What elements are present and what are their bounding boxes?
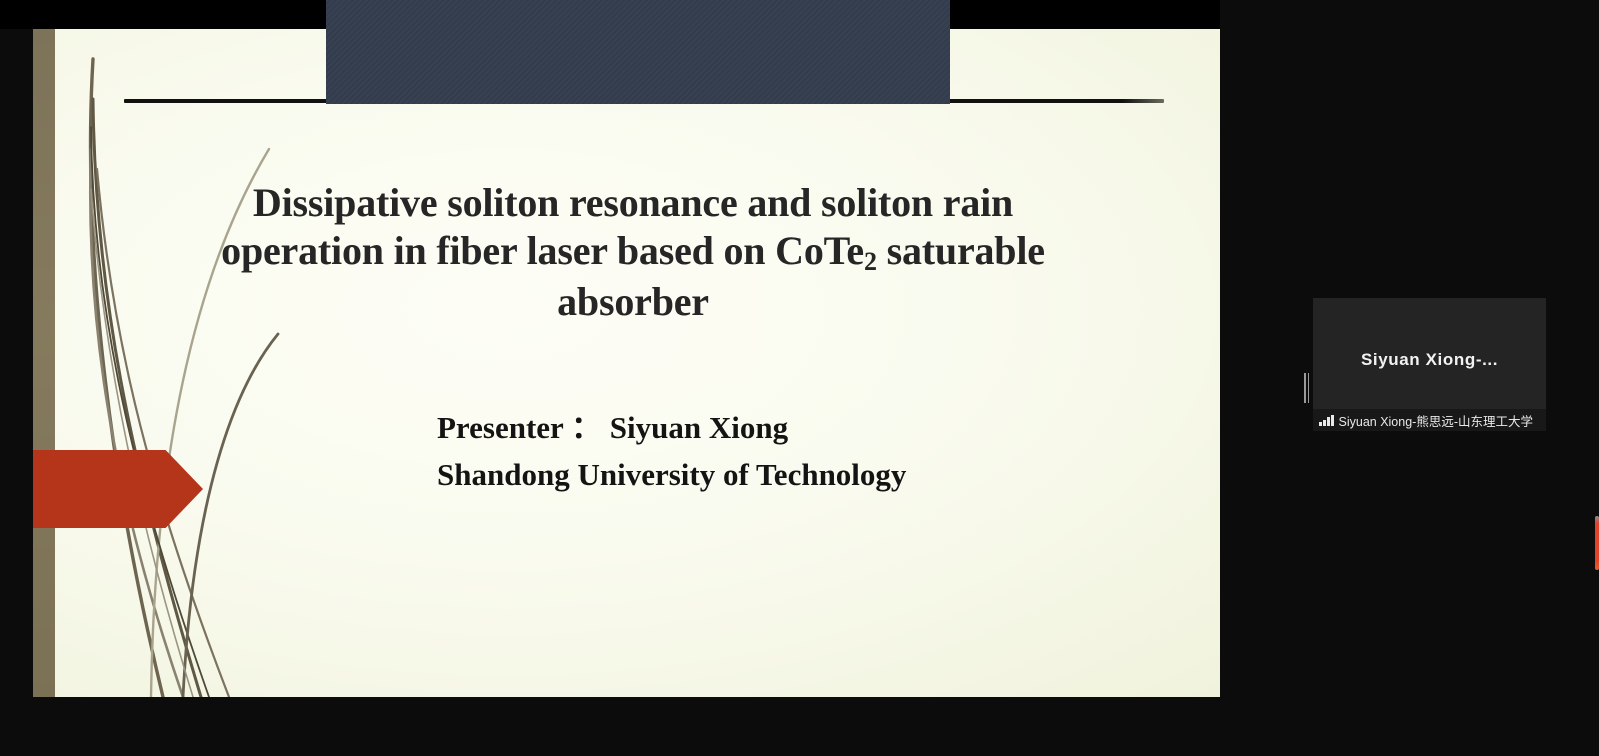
slide-title-line-1: Dissipative soliton resonance and solito…	[183, 179, 1083, 227]
slide-title-subscript: 2	[864, 247, 877, 276]
slide-presenter-block: Presenter ： Siyuan Xiong Shandong Univer…	[437, 404, 1137, 499]
video-tile-drag-handle[interactable]	[1304, 373, 1311, 403]
slide-title-line-2-pre: operation in fiber laser based on CoTe	[221, 228, 864, 273]
presenter-name-line: Presenter ： Siyuan Xiong	[437, 404, 1137, 451]
participant-full-name: Siyuan Xiong-熊思远-山东理工大学	[1339, 411, 1534, 430]
meeting-screen-share-canvas: 2024 6th Internat ICOMD 2024) Dissipativ…	[0, 0, 1599, 756]
accent-chevron-banner	[33, 450, 203, 528]
decorative-grass-stems-icon	[33, 29, 353, 697]
slide-title-line-3: absorber	[183, 278, 1083, 326]
right-edge-scroll-indicator[interactable]	[1595, 516, 1599, 570]
slide-title-line-2-post: saturable	[877, 228, 1045, 273]
presentation-slide: 2024 6th Internat ICOMD 2024) Dissipativ…	[33, 29, 1220, 697]
slide-left-spine	[33, 29, 55, 697]
participant-display-name: Siyuan Xiong-...	[1313, 350, 1546, 370]
presenter-affiliation-line: Shandong University of Technology	[437, 451, 1137, 498]
slide-title-line-2: operation in fiber laser based on CoTe2 …	[183, 227, 1083, 278]
participant-name-bar: Siyuan Xiong-熊思远-山东理工大学	[1313, 409, 1546, 431]
top-overlay-panel[interactable]	[326, 0, 950, 104]
participant-video-tile[interactable]: Siyuan Xiong-... Siyuan Xiong-熊思远-山东理工大学	[1313, 298, 1546, 431]
signal-bars-icon	[1319, 415, 1334, 426]
slide-title: Dissipative soliton resonance and solito…	[183, 179, 1083, 325]
